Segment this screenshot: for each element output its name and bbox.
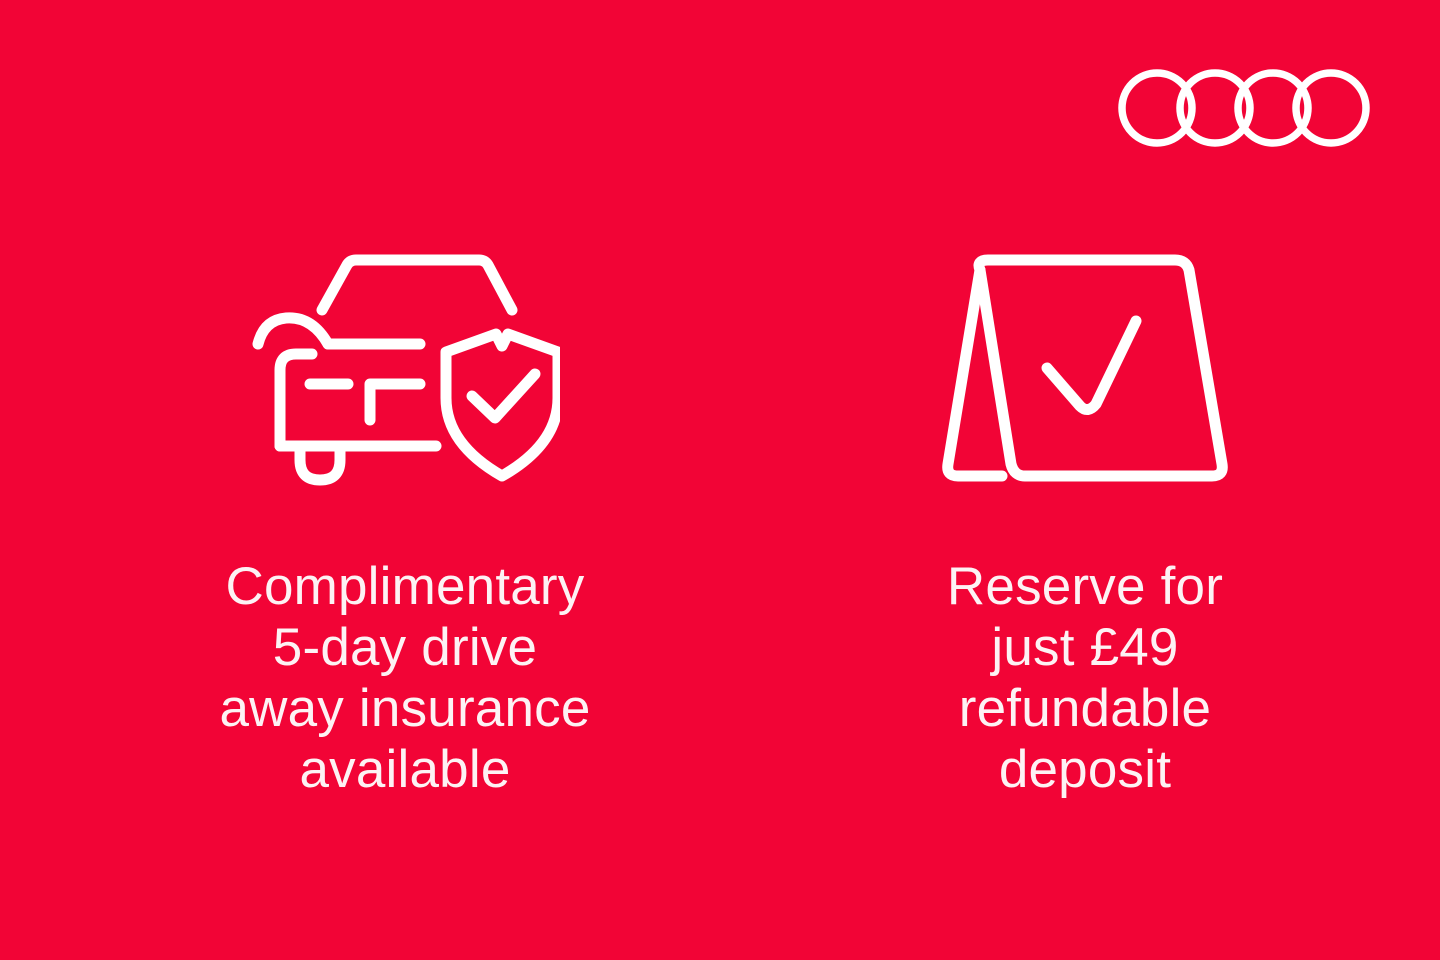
feature-list: Complimentary 5-day drive away insurance… bbox=[0, 0, 1440, 960]
feature-insurance-text: Complimentary 5-day drive away insurance… bbox=[219, 556, 590, 800]
folded-card-check-icon bbox=[940, 248, 1230, 493]
car-shield-icon bbox=[250, 248, 560, 493]
car-shield-svg bbox=[250, 248, 560, 493]
folded-card-check-svg bbox=[940, 248, 1230, 493]
feature-deposit: Reserve for just £49 refundable deposit bbox=[885, 248, 1285, 800]
feature-insurance: Complimentary 5-day drive away insurance… bbox=[105, 248, 705, 800]
feature-deposit-text: Reserve for just £49 refundable deposit bbox=[947, 556, 1223, 800]
promo-banner: Complimentary 5-day drive away insurance… bbox=[0, 0, 1440, 960]
